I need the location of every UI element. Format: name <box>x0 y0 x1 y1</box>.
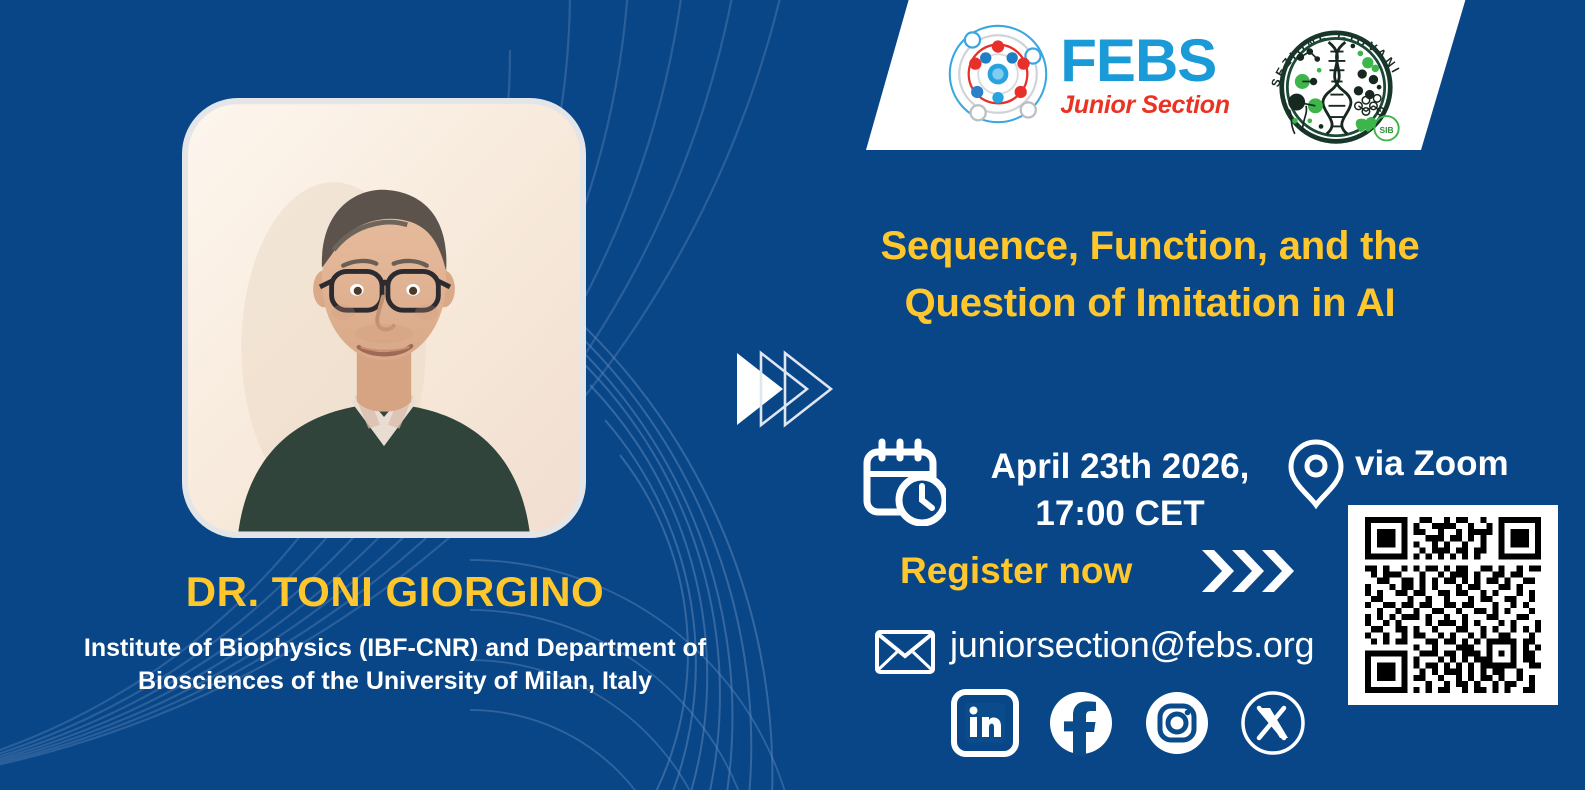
register-label[interactable]: Register now <box>900 550 1132 592</box>
instagram-icon[interactable] <box>1142 688 1212 758</box>
febs-subtitle: Junior Section <box>1060 93 1229 118</box>
page-title: Sequence, Function, and the Question of … <box>800 218 1500 332</box>
chevron-arrows-icon[interactable] <box>1200 548 1300 594</box>
play-arrows-icon <box>735 350 835 428</box>
qr-code[interactable] <box>1348 505 1558 705</box>
webinar-poster: FEBS Junior Section SEZIONE GIOVANI - SI… <box>0 0 1585 790</box>
sib-logo: SEZIONE GIOVANI - SIB <box>1260 1 1412 147</box>
speaker-affiliation: Institute of Biophysics (IBF-CNR) and De… <box>40 632 750 699</box>
speaker-portrait <box>182 98 586 538</box>
contact-email[interactable]: juniorsection@febs.org <box>950 624 1314 666</box>
febs-wordmark: FEBS <box>1060 31 1229 91</box>
atom-icon <box>946 22 1050 126</box>
febs-logo: FEBS Junior Section <box>946 22 1229 126</box>
calendar-clock-icon <box>862 438 946 526</box>
linkedin-icon[interactable] <box>950 688 1020 758</box>
social-links <box>950 688 1308 758</box>
speaker-name: DR. TONI GIORGINO <box>0 568 790 616</box>
logo-banner: FEBS Junior Section SEZIONE GIOVANI - SI… <box>866 0 1466 150</box>
svg-text:SIB: SIB <box>1379 125 1393 135</box>
facebook-icon[interactable] <box>1046 688 1116 758</box>
event-location: via Zoom <box>1355 444 1509 484</box>
x-twitter-icon[interactable] <box>1238 688 1308 758</box>
envelope-icon <box>874 628 936 676</box>
event-date: April 23th 2026, 17:00 CET <box>955 444 1285 537</box>
location-pin-icon <box>1285 437 1347 509</box>
